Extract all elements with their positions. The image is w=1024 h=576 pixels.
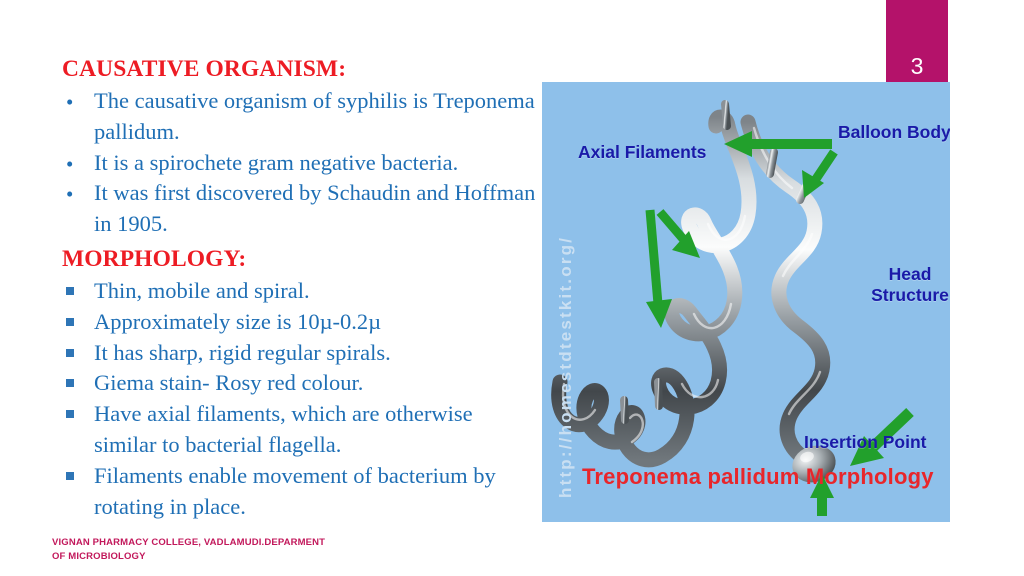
list-item: • The causative organism of syphilis is … [58, 86, 540, 148]
figure-label-axial-filaments: Axial Filaments [578, 142, 706, 163]
slide-footer: VIGNAN PHARMACY COLLEGE, VADLAMUDI.DEPAR… [52, 536, 382, 564]
square-bullet-icon [66, 410, 74, 418]
footer-line-1: VIGNAN PHARMACY COLLEGE, VADLAMUDI.DEPAR… [52, 536, 382, 550]
footer-line-2: OF MICROBIOLOGY [52, 550, 382, 564]
list-item: • It was first discovered by Schaudin an… [58, 178, 540, 240]
head-structure-line-1: Head [889, 264, 932, 284]
section-heading-morphology: MORPHOLOGY: [62, 244, 540, 275]
slide-number: 3 [911, 55, 924, 78]
slide-text-column: CAUSATIVE ORGANISM: • The causative orga… [58, 54, 540, 522]
list-item: It has sharp, rigid regular spirals. [58, 338, 540, 369]
figure-label-head-structure: Head Structure [864, 264, 950, 306]
bullet-list-causative-organism: • The causative organism of syphilis is … [58, 86, 540, 240]
dot-bullet-icon: • [66, 179, 73, 210]
dot-bullet-icon: • [66, 149, 73, 180]
list-item-text: It was first discovered by Schaudin and … [94, 180, 535, 236]
list-item-text: Filaments enable movement of bacterium b… [94, 463, 496, 519]
list-item-text: It has sharp, rigid regular spirals. [94, 340, 391, 365]
list-item: Filaments enable movement of bacterium b… [58, 461, 540, 523]
figure-label-balloon-body: Balloon Body [838, 122, 950, 143]
list-item: • It is a spirochete gram negative bacte… [58, 148, 540, 179]
figure-label-insertion-point: Insertion Point [804, 432, 927, 453]
treponema-pallidum-figure: http://homestdtestkit.org/ Axial Filamen… [542, 82, 950, 522]
list-item-text: The causative organism of syphilis is Tr… [94, 88, 535, 144]
list-item-text: It is a spirochete gram negative bacteri… [94, 150, 458, 175]
figure-caption: Treponema pallidum Morphology [582, 464, 934, 490]
list-item: Approximately size is 10µ-0.2µ [58, 307, 540, 338]
spirochete-body [559, 117, 823, 460]
square-bullet-icon [66, 318, 74, 326]
head-structure-line-2: Structure [871, 285, 949, 305]
list-item: Thin, mobile and spiral. [58, 276, 540, 307]
square-bullet-icon [66, 472, 74, 480]
dot-bullet-icon: • [66, 87, 73, 118]
square-bullet-icon [66, 287, 74, 295]
list-item: Giema stain- Rosy red colour. [58, 368, 540, 399]
section-heading-causative-organism: CAUSATIVE ORGANISM: [62, 54, 540, 85]
slide-number-badge: 3 [886, 0, 948, 84]
bullet-list-morphology: Thin, mobile and spiral. Approximately s… [58, 276, 540, 522]
list-item-text: Have axial filaments, which are otherwis… [94, 401, 473, 457]
list-item-text: Approximately size is 10µ-0.2µ [94, 309, 381, 334]
figure-watermark-url: http://homestdtestkit.org/ [556, 82, 576, 498]
arrow-balloon-body-down [802, 152, 834, 198]
square-bullet-icon [66, 349, 74, 357]
list-item: Have axial filaments, which are otherwis… [58, 399, 540, 461]
square-bullet-icon [66, 379, 74, 387]
list-item-text: Thin, mobile and spiral. [94, 278, 310, 303]
list-item-text: Giema stain- Rosy red colour. [94, 370, 363, 395]
